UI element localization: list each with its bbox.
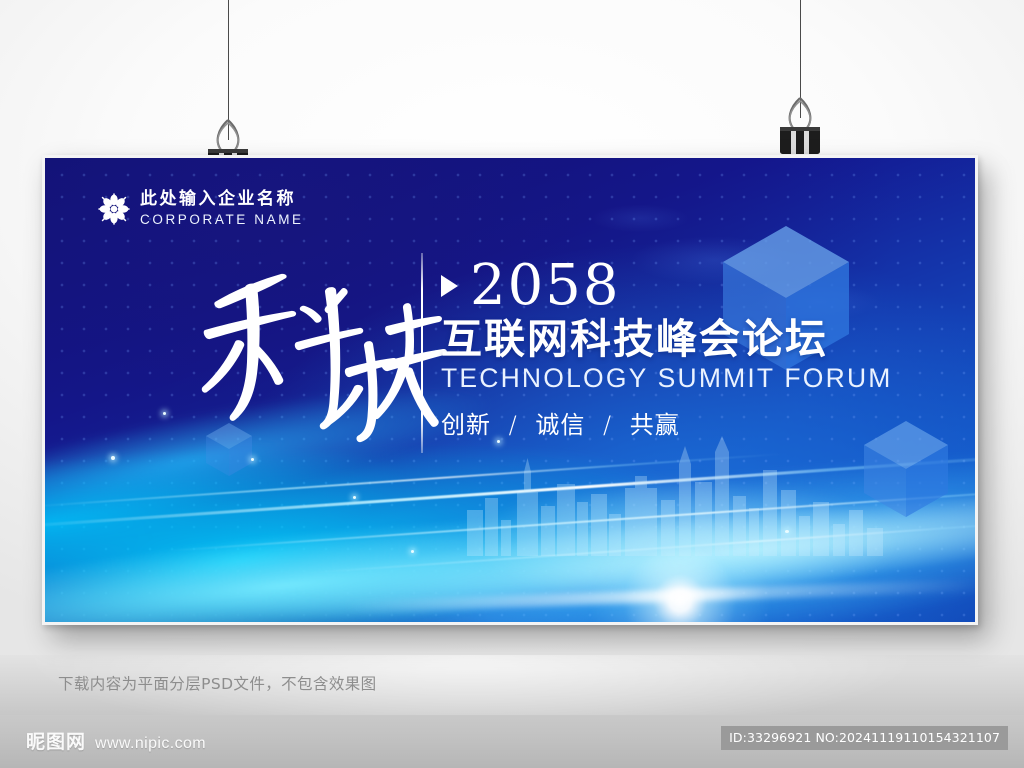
- download-note: 下载内容为平面分层PSD文件，不包含效果图: [58, 672, 377, 694]
- play-triangle-icon: [441, 275, 458, 297]
- slogan: 创新 / 诚信 / 共赢: [441, 405, 893, 440]
- watermark-site-name: 昵图网: [26, 727, 86, 754]
- site-watermark[interactable]: 昵图网 www.nipic.com: [26, 727, 206, 754]
- asset-id-badge: ID:33296921 NO:20241119110154321107: [721, 726, 1008, 750]
- title-stack: 2058 互联网科技峰会论坛 TECHNOLOGY SUMMIT FORUM 创…: [441, 260, 893, 440]
- headline-chinese: 互联网科技峰会论坛: [441, 317, 893, 361]
- corporate-logo-block: 此处输入企业名称 CORPORATE NAME: [97, 191, 304, 227]
- binder-clip-icon: [771, 96, 829, 156]
- slogan-item-3: 共赢: [630, 411, 680, 439]
- watermark-site-url: www.nipic.com: [95, 735, 206, 753]
- event-year: 2058: [470, 260, 621, 313]
- slogan-item-1: 创新: [441, 411, 491, 439]
- calligraphy-keji: [197, 250, 447, 450]
- headline-english: TECHNOLOGY SUMMIT FORUM: [441, 364, 893, 393]
- year-row: 2058: [441, 260, 893, 313]
- slogan-separator: /: [594, 411, 621, 439]
- title-divider: [421, 253, 423, 453]
- company-name-en: CORPORATE NAME: [140, 213, 304, 227]
- event-banner-board: 此处输入企业名称 CORPORATE NAME: [42, 155, 978, 625]
- flower-logo-icon: [97, 192, 131, 226]
- slogan-separator: /: [500, 411, 527, 439]
- slogan-item-2: 诚信: [535, 411, 585, 439]
- company-name-cn: 此处输入企业名称: [140, 191, 304, 208]
